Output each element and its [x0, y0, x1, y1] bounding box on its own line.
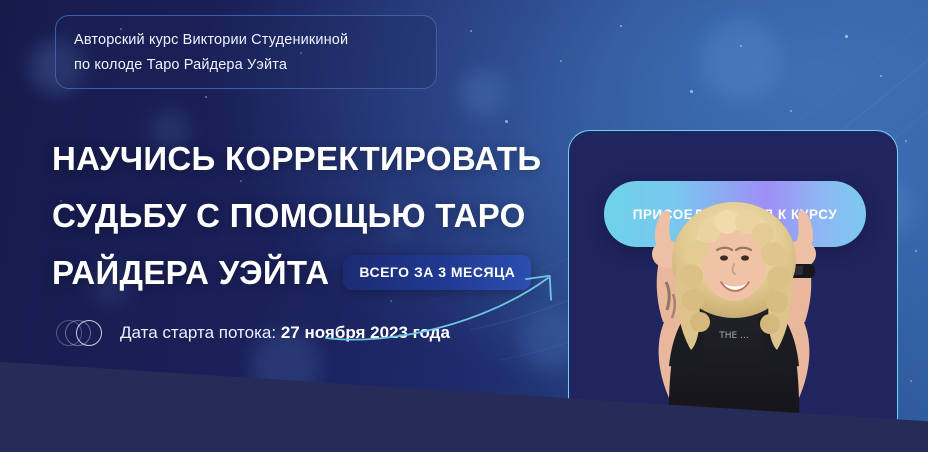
header-line-1: Авторский курс Виктории Студеникиной [74, 28, 418, 53]
instructor-photo: THE ... [569, 202, 898, 452]
headline-line-2: СУДЬБУ С ПОМОЩЬЮ ТАРО [52, 187, 572, 244]
headline-line-3: РАЙДЕРА УЭЙТА [52, 244, 329, 301]
start-date-value: 27 ноября 2023 года [281, 323, 450, 342]
header-line-2: по колоде Таро Райдера Уэйта [74, 53, 418, 78]
cta-card: ПРИСОЕДИНИТЬСЯ К КУРСУ [568, 130, 898, 452]
course-author-box: Авторский курс Виктории Студеникиной по … [55, 15, 437, 89]
svg-text:THE ...: THE ... [718, 331, 748, 341]
duration-badge: ВСЕГО ЗА 3 МЕСЯЦА [343, 255, 531, 290]
promo-banner: Авторский курс Виктории Студеникиной по … [0, 0, 928, 452]
start-date-row: Дата старта потока: 27 ноября 2023 года [56, 318, 450, 348]
three-rings-icon [56, 318, 108, 348]
headline-block: НАУЧИСЬ КОРРЕКТИРОВАТЬ СУДЬБУ С ПОМОЩЬЮ … [52, 130, 572, 301]
headline-line-3-row: РАЙДЕРА УЭЙТА ВСЕГО ЗА 3 МЕСЯЦА [52, 244, 572, 301]
headline-line-1: НАУЧИСЬ КОРРЕКТИРОВАТЬ [52, 130, 572, 187]
start-date-text: Дата старта потока: 27 ноября 2023 года [120, 323, 450, 343]
start-date-prefix: Дата старта потока: [120, 323, 276, 342]
